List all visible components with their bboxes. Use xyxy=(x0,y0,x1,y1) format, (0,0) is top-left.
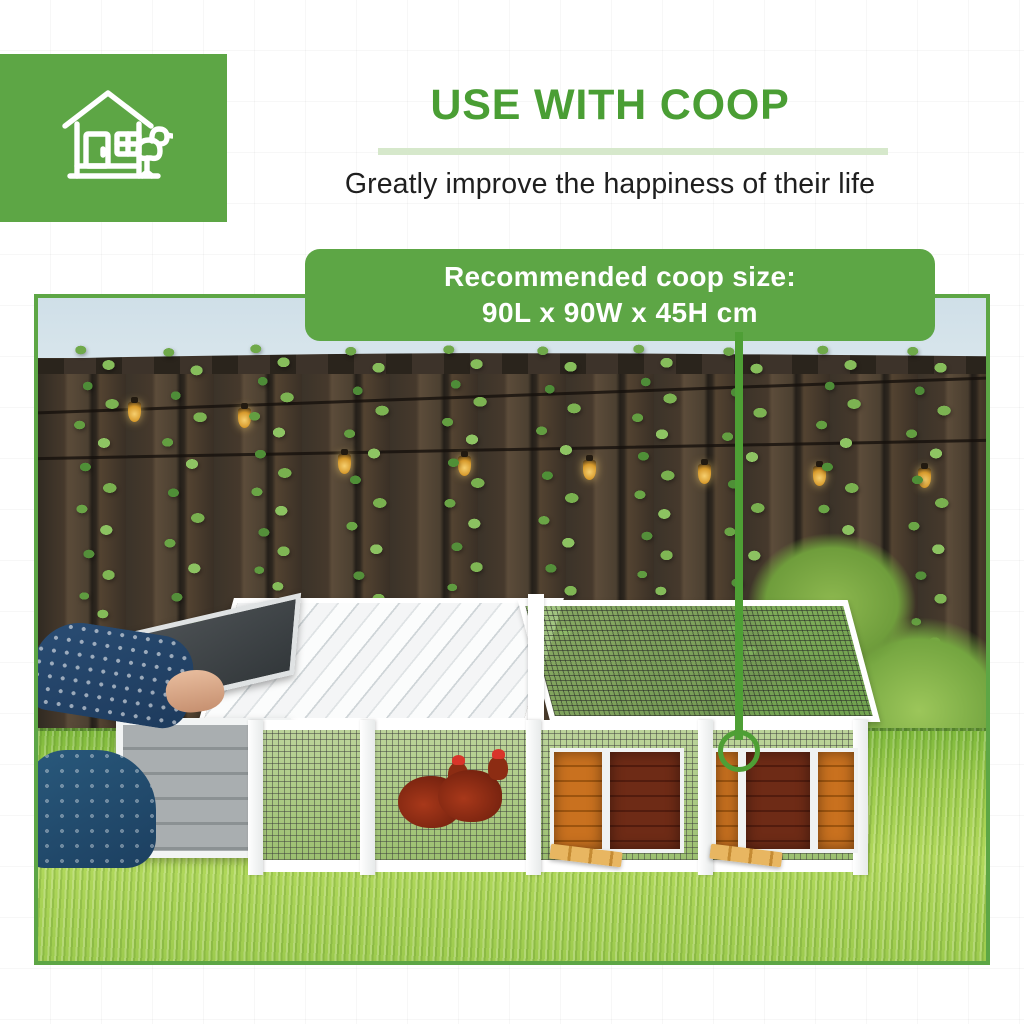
title-divider xyxy=(378,148,888,155)
coop-roof-ridge xyxy=(528,594,544,726)
wooden-coop-box xyxy=(814,748,858,853)
person-leg xyxy=(38,750,156,868)
string-light-bulb-icon xyxy=(698,464,711,484)
recommended-coop-size-badge: Recommended coop size: 90L x 90W x 45H c… xyxy=(305,249,935,341)
hanging-vine xyxy=(626,338,684,613)
photo-scene xyxy=(38,298,986,961)
coop-post xyxy=(248,720,263,875)
string-light-bulb-icon xyxy=(128,402,141,422)
header-section: USE WITH COOP Greatly improve the happin… xyxy=(0,0,1024,240)
coop-house-chicken-icon-box xyxy=(0,54,227,222)
coop-post xyxy=(526,720,541,875)
annotation-pointer-line xyxy=(735,332,743,740)
hanging-vine xyxy=(243,338,301,608)
hanging-vine xyxy=(68,338,126,638)
wooden-coop-box xyxy=(550,748,606,853)
coop-post xyxy=(360,720,375,875)
badge-line-1: Recommended coop size: xyxy=(444,259,796,295)
page-title: USE WITH COOP xyxy=(250,83,970,128)
coop-mesh-roof xyxy=(518,600,881,722)
page-subtitle: Greatly improve the happiness of their l… xyxy=(250,168,970,201)
wooden-coop-box-interior xyxy=(606,748,684,853)
chicken-coop xyxy=(98,598,898,878)
hanging-vine xyxy=(436,338,494,628)
badge-line-2: 90L x 90W x 45H cm xyxy=(482,295,758,331)
coop-house-chicken-icon xyxy=(55,84,173,192)
annotation-pointer-ring xyxy=(718,730,760,772)
product-photo xyxy=(34,294,990,965)
chicken xyxy=(438,770,502,822)
